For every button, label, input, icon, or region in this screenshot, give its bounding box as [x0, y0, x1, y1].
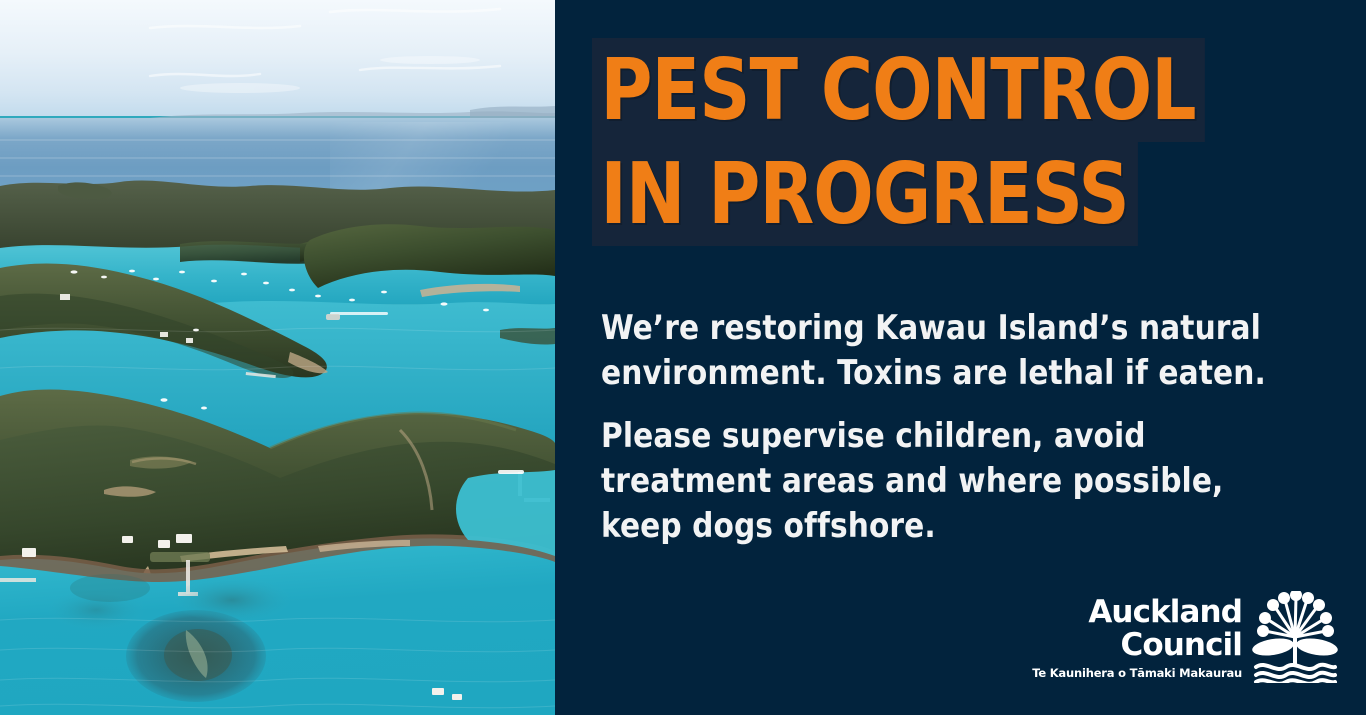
auckland-council-logo: Auckland Council Te Kaunihera o Tāmaki M… [1032, 591, 1338, 683]
pohutukawa-flower-and-waves-icon [1252, 591, 1338, 683]
message-panel: PEST CONTROL IN PROGRESS We’re restoring… [555, 0, 1366, 715]
headline-line-1: PEST CONTROL [592, 38, 1205, 142]
headline: PEST CONTROL IN PROGRESS [592, 38, 1332, 246]
headline-line-2: IN PROGRESS [592, 142, 1138, 246]
logo-word-auckland: Auckland [1032, 596, 1242, 629]
aerial-photo-illustration [0, 0, 555, 715]
body-paragraph-1: We’re restoring Kawau Island’s natural e… [601, 306, 1280, 396]
body-paragraph-2: Please supervise children, avoid treatme… [601, 414, 1280, 549]
poster: PEST CONTROL IN PROGRESS We’re restoring… [0, 0, 1366, 715]
aerial-photo-kawau-island [0, 0, 555, 715]
body-copy: We’re restoring Kawau Island’s natural e… [601, 306, 1301, 549]
logo-maori-tagline: Te Kaunihera o Tāmaki Makaurau [1032, 665, 1242, 681]
logo-wordmark: Auckland Council Te Kaunihera o Tāmaki M… [1032, 596, 1242, 683]
logo-word-council: Council [1032, 629, 1242, 662]
